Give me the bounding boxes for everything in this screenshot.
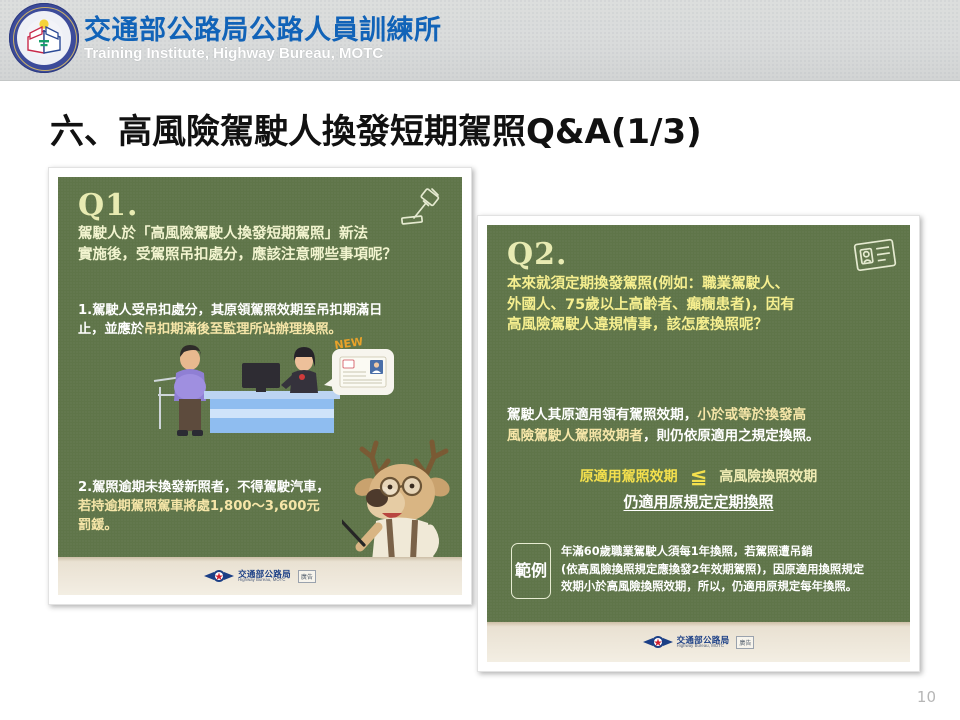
q1-label: Q1.	[78, 188, 138, 223]
q2-body-part-2: ，則仍依原適用之規定換照。	[643, 428, 820, 444]
q2-example-text: 年滿60歲職業駕駛人須每1年換照，若駕照遭吊銷 (依高風險換照規定應換發2年效期…	[561, 543, 901, 596]
org-title-zh: 交通部公路局公路人員訓練所	[84, 8, 442, 47]
q2-compare-right: 高風險換照效期	[719, 469, 817, 485]
motc-logo-text: 交通部公路局 Highway Bureau, MOTC	[677, 636, 730, 649]
q2-body-part-1: 駕駛人其原適用領有駕照效期，	[507, 407, 697, 423]
motc-logo: 交通部公路局 Highway Bureau, MOTC 廣告	[643, 635, 755, 649]
q2-poster-body: Q2. 本來就須定期換發駕照(例如：職業駕駛人、 外國人、75歲以上高齡者、癲癇…	[487, 225, 910, 662]
motc-logo-en: Highway Bureau, MOTC	[677, 644, 730, 648]
q1-poster-card: Q1. 駕駛人於「高風險駕駛人換發短期駕照」新法 實施後，受駕照吊扣處分，應該注…	[48, 167, 472, 605]
q1-item-2-highlight: 若持逾期駕照駕車將處1,800～3,600元 罰鍰。	[78, 499, 320, 533]
q2-comparison-result: 仍適用原規定定期換照	[487, 491, 910, 512]
header-banner: 交通部公路局公路人員訓練所 Training Institute, Highwa…	[0, 0, 960, 81]
q1-item-2-text: 駕照逾期未換發新照者，不得駕駛汽車，	[92, 480, 329, 495]
q2-example-label: 範例	[515, 563, 547, 580]
page-number: 10	[917, 688, 936, 706]
q1-item-2-number: 2.	[78, 480, 92, 495]
q1-item-2: 2.駕照逾期未換發新照者，不得駕駛汽車， 若持逾期駕照駕車將處1,800～3,6…	[78, 459, 368, 536]
emblem-book-graphic	[9, 3, 79, 73]
q1-question-text: 駕駛人於「高風險駕駛人換發短期駕照」新法 實施後，受駕照吊扣處分，應該注意哪些事…	[78, 224, 453, 265]
slide-canvas: 交通部公路局公路人員訓練所 Training Institute, Highwa…	[0, 0, 960, 720]
training-institute-emblem	[9, 3, 79, 73]
q2-comparison-row: 原適用駕照效期≦高風險換照效期	[487, 462, 910, 486]
org-title-en: Training Institute, Highway Bureau, MOTC	[84, 45, 383, 62]
q1-item-1-number: 1.	[78, 303, 92, 318]
q2-question-text: 本來就須定期換發駕照(例如：職業駕駛人、 外國人、75歲以上高齡者、癲癇患者)，…	[507, 274, 907, 336]
q2-body-text: 駕駛人其原適用領有駕照效期，小於或等於換發高 風險駕駛人駕照效期者，則仍依原適用…	[507, 385, 907, 446]
q1-poster-body: Q1. 駕駛人於「高風險駕駛人換發短期駕照」新法 實施後，受駕照吊扣處分，應該注…	[58, 177, 462, 595]
q1-poster-footer: 交通部公路局 Highway Bureau, MOTC 廣告	[58, 557, 462, 595]
q2-compare-left: 原適用駕照效期	[580, 469, 678, 485]
counter-service-illustration: NEW	[146, 335, 396, 447]
motc-logo-text: 交通部公路局 Highway Bureau, MOTC	[238, 570, 291, 583]
q2-label: Q2.	[507, 237, 567, 272]
q2-poster-card: Q2. 本來就須定期換發駕照(例如：職業駕駛人、 外國人、75歲以上高齡者、癲癇…	[477, 215, 920, 672]
ad-badge: 廣告	[736, 636, 754, 649]
page-title: 六、高風險駕駛人換發短期駕照Q&A(1/3)	[50, 104, 702, 153]
q1-item-1: 1.駕駛人受吊扣處分，其原領駕照效期至吊扣期滿日 止，並應於吊扣期滿後至監理所站…	[78, 282, 458, 339]
motc-logo-en: Highway Bureau, MOTC	[238, 578, 291, 582]
id-card-icon	[852, 237, 898, 273]
q2-poster-footer: 交通部公路局 Highway Bureau, MOTC 廣告	[487, 622, 910, 662]
less-than-or-equal-icon: ≦	[678, 464, 720, 488]
ad-badge: 廣告	[298, 570, 316, 583]
motc-wing-icon	[643, 635, 673, 649]
motc-wing-icon	[204, 569, 234, 583]
motc-logo: 交通部公路局 Highway Bureau, MOTC 廣告	[204, 569, 316, 583]
q2-example-label-box: 範例	[511, 543, 551, 599]
